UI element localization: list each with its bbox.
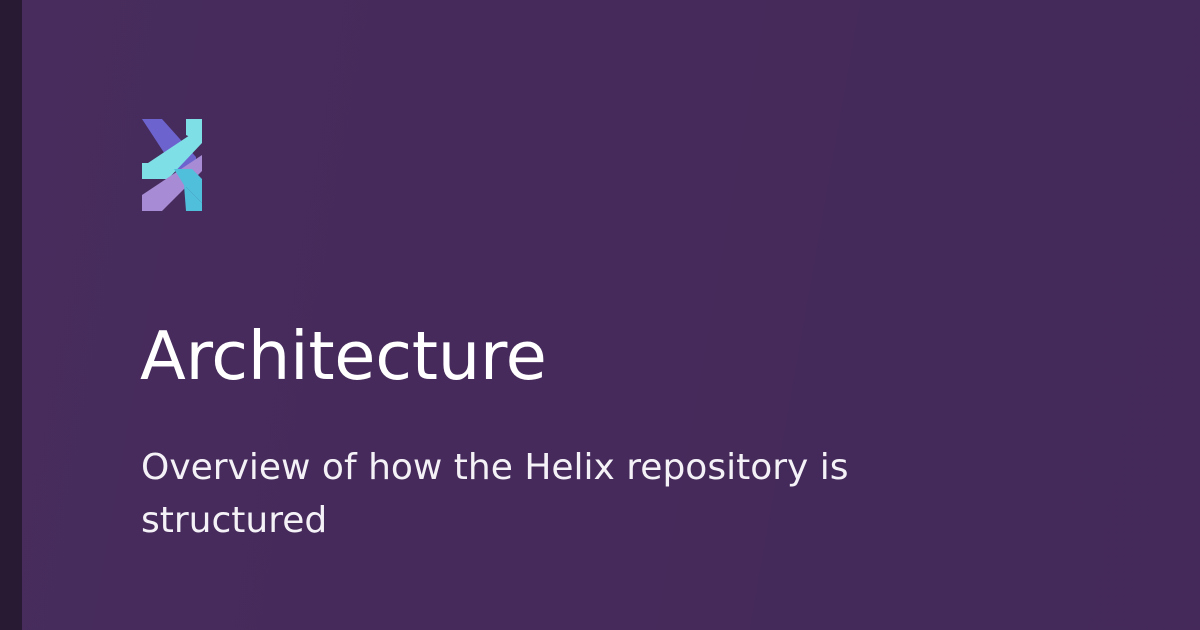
left-edge-accent-strip <box>0 0 22 630</box>
page-subtitle: Overview of how the Helix repository is … <box>141 442 901 547</box>
page-title: Architecture <box>140 319 547 394</box>
card-content: Architecture Overview of how the Helix r… <box>140 0 1140 630</box>
helix-dna-logo-icon <box>140 117 204 213</box>
og-preview-card: Architecture Overview of how the Helix r… <box>0 0 1200 630</box>
